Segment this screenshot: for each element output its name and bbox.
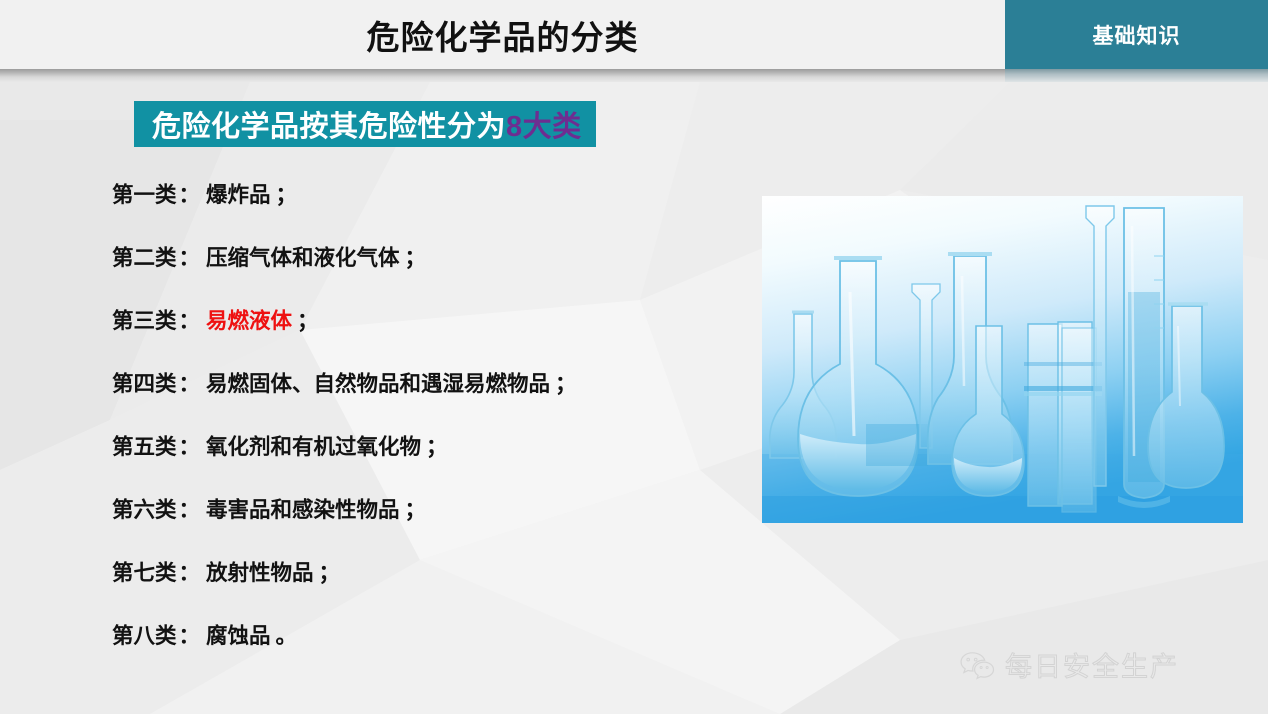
list-item-terminator: ； — [271, 178, 298, 209]
subtitle-banner: 危险化学品按其危险性分为8大类 — [134, 101, 596, 147]
list-item-value-highlighted: 易燃液体 — [206, 304, 292, 335]
page-title: 危险化学品的分类 — [0, 0, 1005, 69]
list-item-terminator: 。 — [271, 619, 298, 650]
list-item-value: 氧化剂和有机过氧化物 — [206, 430, 421, 461]
section-badge: 基础知识 — [1005, 0, 1268, 69]
list-item-terminator: ； — [421, 430, 448, 461]
list-item-separator: ： — [177, 304, 207, 335]
list-item: 第四类 ： 易燃固体、自然物品和遇湿易燃物品 ； — [112, 367, 752, 430]
list-item-value: 腐蚀品 — [206, 619, 271, 650]
list-item-label: 第八类 — [112, 619, 177, 650]
header-shadow-right — [1005, 69, 1268, 82]
section-badge-label: 基础知识 — [1093, 20, 1181, 50]
list-item-label: 第二类 — [112, 241, 177, 272]
list-item: 第八类 ： 腐蚀品 。 — [112, 619, 752, 682]
watermark-label: 每日安全生产 — [1005, 645, 1179, 684]
list-item-separator: ： — [177, 241, 207, 272]
watermark: 每日安全生产 — [958, 645, 1179, 684]
list-item-separator: ： — [177, 178, 207, 209]
list-item-terminator: ； — [292, 304, 319, 335]
wechat-icon — [958, 650, 996, 680]
list-item-separator: ： — [177, 619, 207, 650]
list-item-label: 第四类 — [112, 367, 177, 398]
subtitle-text-accent: 8大类 — [506, 111, 582, 143]
list-item-label: 第五类 — [112, 430, 177, 461]
list-item-terminator: ； — [400, 493, 427, 524]
list-item-label: 第七类 — [112, 556, 177, 587]
list-item-separator: ： — [177, 493, 207, 524]
header-shadow — [0, 69, 1005, 82]
list-item-label: 第六类 — [112, 493, 177, 524]
list-item-value: 压缩气体和液化气体 — [206, 241, 400, 272]
page-title-text: 危险化学品的分类 — [367, 11, 639, 59]
subtitle-banner-text: 危险化学品按其危险性分为8大类 — [152, 103, 582, 145]
list-item-value: 爆炸品 — [206, 178, 271, 209]
list-item: 第六类 ： 毒害品和感染性物品 ； — [112, 493, 752, 556]
list-item-terminator: ； — [400, 241, 427, 272]
list-item-terminator: ； — [550, 367, 577, 398]
list-item-value: 毒害品和感染性物品 — [206, 493, 400, 524]
list-item-separator: ： — [177, 430, 207, 461]
list-item-label: 第三类 — [112, 304, 177, 335]
classification-list: 第一类 ： 爆炸品 ； 第二类 ： 压缩气体和液化气体 ； 第三类 ： 易燃液体… — [112, 178, 752, 682]
list-item-separator: ： — [177, 556, 207, 587]
subtitle-text-main: 危险化学品按其危险性分为 — [152, 111, 506, 143]
laboratory-glassware-photo — [762, 196, 1243, 523]
list-item: 第五类 ： 氧化剂和有机过氧化物 ； — [112, 430, 752, 493]
list-item: 第一类 ： 爆炸品 ； — [112, 178, 752, 241]
list-item: 第三类 ： 易燃液体 ； — [112, 304, 752, 367]
slide: 危险化学品的分类 基础知识 危险化学品按其危险性分为8大类 第一类 ： 爆炸品 … — [0, 0, 1268, 714]
list-item-separator: ： — [177, 367, 207, 398]
list-item-value: 易燃固体、自然物品和遇湿易燃物品 — [206, 367, 550, 398]
list-item-terminator: ； — [314, 556, 341, 587]
list-item-value: 放射性物品 — [206, 556, 314, 587]
list-item-label: 第一类 — [112, 178, 177, 209]
list-item: 第二类 ： 压缩气体和液化气体 ； — [112, 241, 752, 304]
list-item: 第七类 ： 放射性物品 ； — [112, 556, 752, 619]
